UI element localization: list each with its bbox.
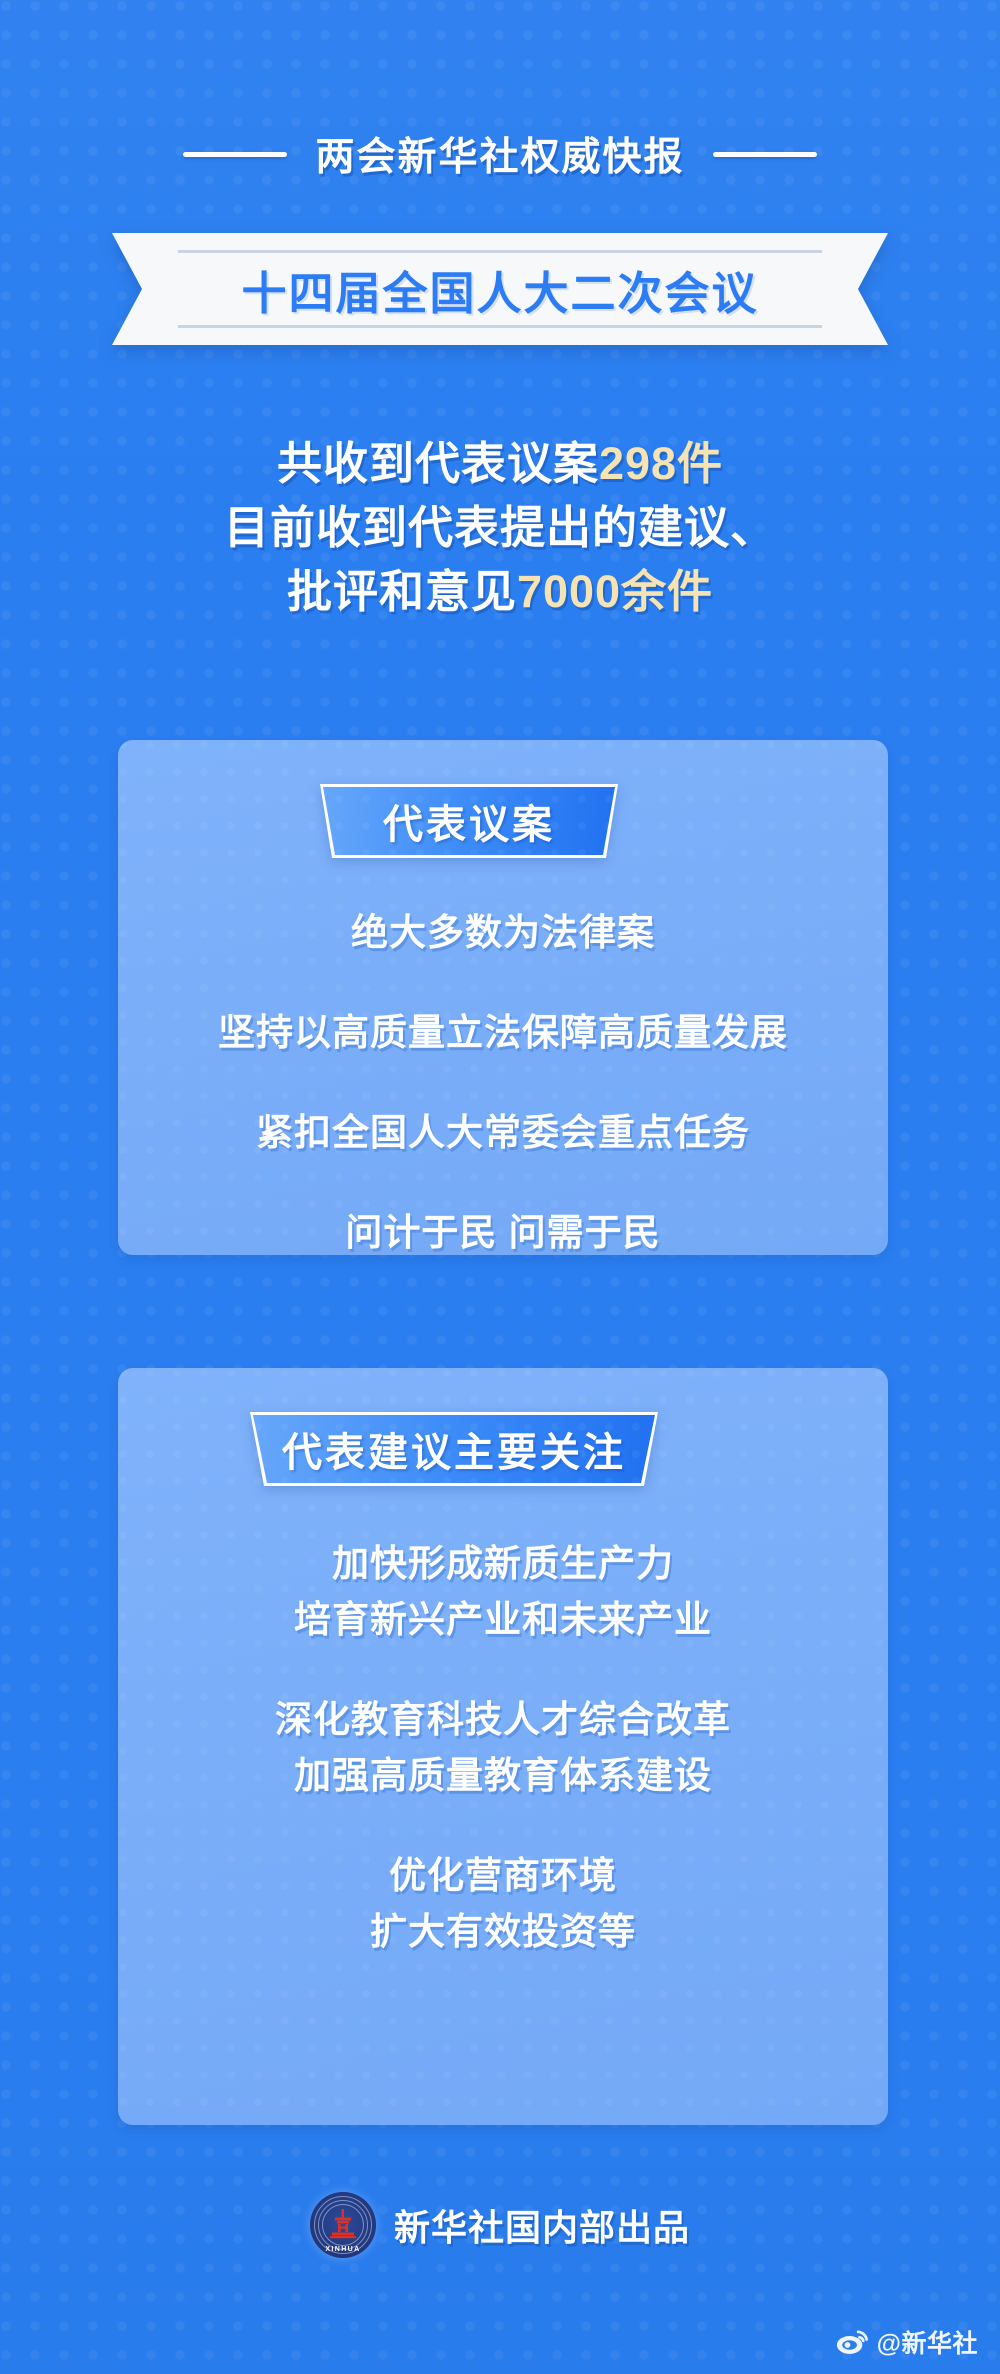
badge-label: 代表建议主要关注 xyxy=(238,1412,670,1486)
text-group: 加快形成新质生产力 培育新兴产业和未来产业 xyxy=(118,1536,888,1648)
footer: XINHUA 新华社国内部出品 xyxy=(0,2192,1000,2258)
text-group: 问计于民 问需于民 xyxy=(118,1205,888,1261)
weibo-watermark: @新华社 xyxy=(836,2324,978,2360)
ribbon-title: 十四届全国人大二次会议 xyxy=(112,233,888,345)
headline-line-3: 批评和意见7000余件 xyxy=(0,560,1000,624)
card-body-focus: 加快形成新质生产力 培育新兴产业和未来产业 深化教育科技人才综合改革 加强高质量… xyxy=(118,1536,888,1960)
text-group: 深化教育科技人才综合改革 加强高质量教育体系建设 xyxy=(118,1692,888,1804)
headline-line-1-prefix: 共收到代表议案 xyxy=(277,438,599,489)
text-line: 扩大有效投资等 xyxy=(118,1904,888,1960)
text-line: 深化教育科技人才综合改革 xyxy=(118,1692,888,1748)
ribbon-banner: 十四届全国人大二次会议 xyxy=(112,233,888,345)
rule-left-icon xyxy=(183,152,287,157)
text-line: 优化营商环境 xyxy=(118,1848,888,1904)
text-group: 坚持以高质量立法保障高质量发展 xyxy=(118,1005,888,1061)
logo-arc-text: XINHUA xyxy=(310,2246,376,2253)
text-line: 加快形成新质生产力 xyxy=(118,1536,888,1592)
card-badge-proposals: 代表议案 xyxy=(308,784,630,858)
card-representative-proposals: 代表议案 绝大多数为法律案 坚持以高质量立法保障高质量发展 紧扣全国人大常委会重… xyxy=(118,740,888,1255)
headline-number-suggestions: 7000余件 xyxy=(517,566,713,617)
text-group: 优化营商环境 扩大有效投资等 xyxy=(118,1848,888,1960)
text-group: 绝大多数为法律案 xyxy=(118,905,888,961)
text-group: 紧扣全国人大常委会重点任务 xyxy=(118,1105,888,1161)
kicker-title: 两会新华社权威快报 xyxy=(315,126,684,182)
text-line: 加强高质量教育体系建设 xyxy=(118,1748,888,1804)
weibo-handle: @新华社 xyxy=(877,2324,978,2360)
pagoda-tower-icon xyxy=(327,2209,359,2241)
text-line: 绝大多数为法律案 xyxy=(118,905,888,961)
text-line: 培育新兴产业和未来产业 xyxy=(118,1592,888,1648)
badge-label: 代表议案 xyxy=(308,784,630,858)
rule-right-icon xyxy=(713,152,817,157)
kicker-strap: 两会新华社权威快报 xyxy=(0,126,1000,182)
text-line: 问计于民 问需于民 xyxy=(118,1205,888,1261)
headline-line-3-prefix: 批评和意见 xyxy=(287,566,517,617)
card-suggestion-focus: 代表建议主要关注 加快形成新质生产力 培育新兴产业和未来产业 深化教育科技人才综… xyxy=(118,1368,888,2125)
headline-block: 共收到代表议案298件 目前收到代表提出的建议、 批评和意见7000余件 xyxy=(0,432,1000,624)
card-body-proposals: 绝大多数为法律案 坚持以高质量立法保障高质量发展 紧扣全国人大常委会重点任务 问… xyxy=(118,905,888,1261)
headline-line-2: 目前收到代表提出的建议、 xyxy=(0,496,1000,560)
poster-canvas: 两会新华社权威快报 十四届全国人大二次会议 共收到代表议案298件 目前收到代表… xyxy=(0,0,1000,2374)
xinhua-logo-icon: XINHUA xyxy=(310,2192,376,2258)
card-badge-focus: 代表建议主要关注 xyxy=(238,1412,670,1486)
text-line: 坚持以高质量立法保障高质量发展 xyxy=(118,1005,888,1061)
headline-line-1: 共收到代表议案298件 xyxy=(0,432,1000,496)
footer-credit: 新华社国内部出品 xyxy=(394,2199,690,2251)
headline-number-proposals: 298件 xyxy=(599,438,723,489)
text-line: 紧扣全国人大常委会重点任务 xyxy=(118,1105,888,1161)
weibo-icon xyxy=(836,2329,870,2355)
